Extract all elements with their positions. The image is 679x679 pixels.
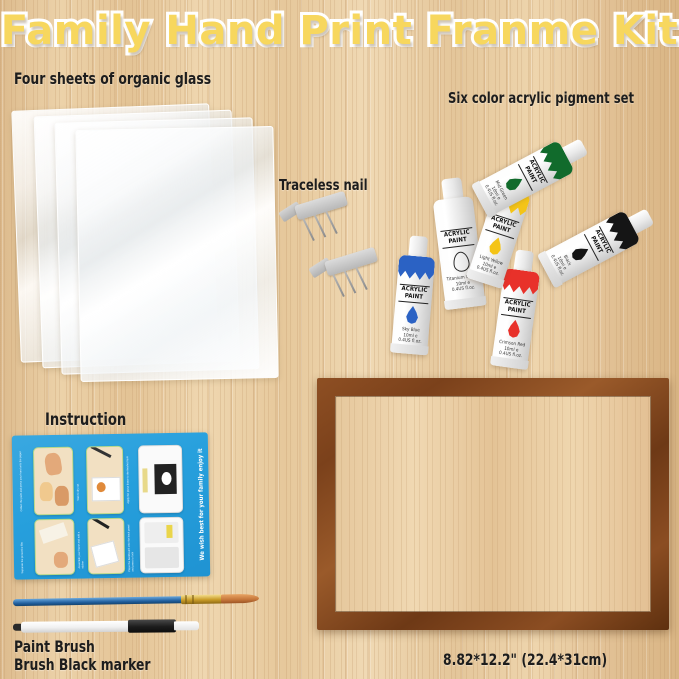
black-marker [13, 619, 199, 634]
product-image: Family Hand Print Franme Kit Four sheets… [0, 0, 679, 679]
instruction-step-text: Place the backboard onto the back panel … [127, 520, 135, 572]
nail-pin [332, 274, 345, 297]
label-pigment-set: Six color acrylic pigment set [448, 89, 634, 107]
nail-pin [344, 270, 357, 293]
paint-tube-mid-green: ACRYLICPAINT Mid Green10ml e0.4US fl.oz. [471, 130, 592, 217]
nail-pin [314, 214, 327, 237]
instruction-panel [33, 447, 74, 516]
label-black-marker: Brush Black marker [14, 655, 150, 674]
nail-pin [355, 267, 368, 290]
label-paint-brush: Paint Brush [14, 637, 95, 656]
paint-drop-icon [486, 235, 505, 256]
paint-drop-icon [506, 319, 522, 339]
instruction-card: Collect the paint and press your hand on… [12, 432, 210, 579]
label-organic-glass: Four sheets of organic glass [14, 69, 211, 88]
paint-tube-black: ACRYLICPAINT Black10ml e0.4US fl.oz. [537, 200, 658, 287]
tube-crimp [390, 343, 429, 355]
brush-bristle-tip [221, 594, 259, 604]
marker-cap [128, 619, 176, 632]
instruction-panel [138, 445, 183, 514]
paint-splash-icon [397, 255, 435, 284]
instruction-panel [139, 517, 184, 574]
marker-barrel [21, 621, 131, 633]
instruction-step-text: Collect the paint and press your hand on… [19, 450, 23, 512]
instruction-panel [34, 519, 75, 576]
instruction-step-text: Apply the press frame to the finished it… [126, 452, 130, 504]
paint-splash-icon [433, 196, 476, 228]
frame-interior [335, 396, 651, 612]
nail-pin [302, 218, 315, 241]
label-traceless-nail: Traceless nail [279, 176, 368, 194]
photo-frame [317, 378, 669, 630]
instruction-side-text: We wish best for your family enjoy it [197, 448, 206, 560]
tube-barrel: ACRYLICPAINT Sky Blue10ml e0.4US fl.oz. [391, 255, 435, 356]
marker-end [174, 621, 199, 630]
glass-sheet [75, 126, 278, 382]
label-instruction: Instruction [45, 410, 126, 430]
instruction-step-text: Wait to dry out [76, 457, 80, 501]
paint-drop-icon [404, 305, 420, 324]
nail-body [294, 191, 348, 221]
instruction-step-text: Assemble your frame and add a sticker [77, 524, 85, 568]
instruction-panel [86, 446, 124, 515]
instruction-panel [87, 518, 125, 575]
instruction-step-text: Separate the protective film [20, 522, 24, 574]
paint-drop-icon [503, 173, 525, 194]
paint-splash-icon [501, 268, 540, 299]
paint-drop-icon [569, 243, 591, 264]
paint-tube-sky-blue: ACRYLICPAINT Sky Blue10ml e0.4US fl.oz. [391, 235, 437, 356]
paint-brush [13, 594, 259, 607]
brush-ferrule [181, 594, 223, 604]
nail-pin [325, 211, 338, 234]
page-title: Family Hand Print Franme Kit [0, 8, 679, 54]
nail-body [324, 247, 378, 277]
label-frame-size: 8.82*12.2" (22.4*31cm) [443, 650, 607, 669]
brush-handle [13, 596, 185, 606]
